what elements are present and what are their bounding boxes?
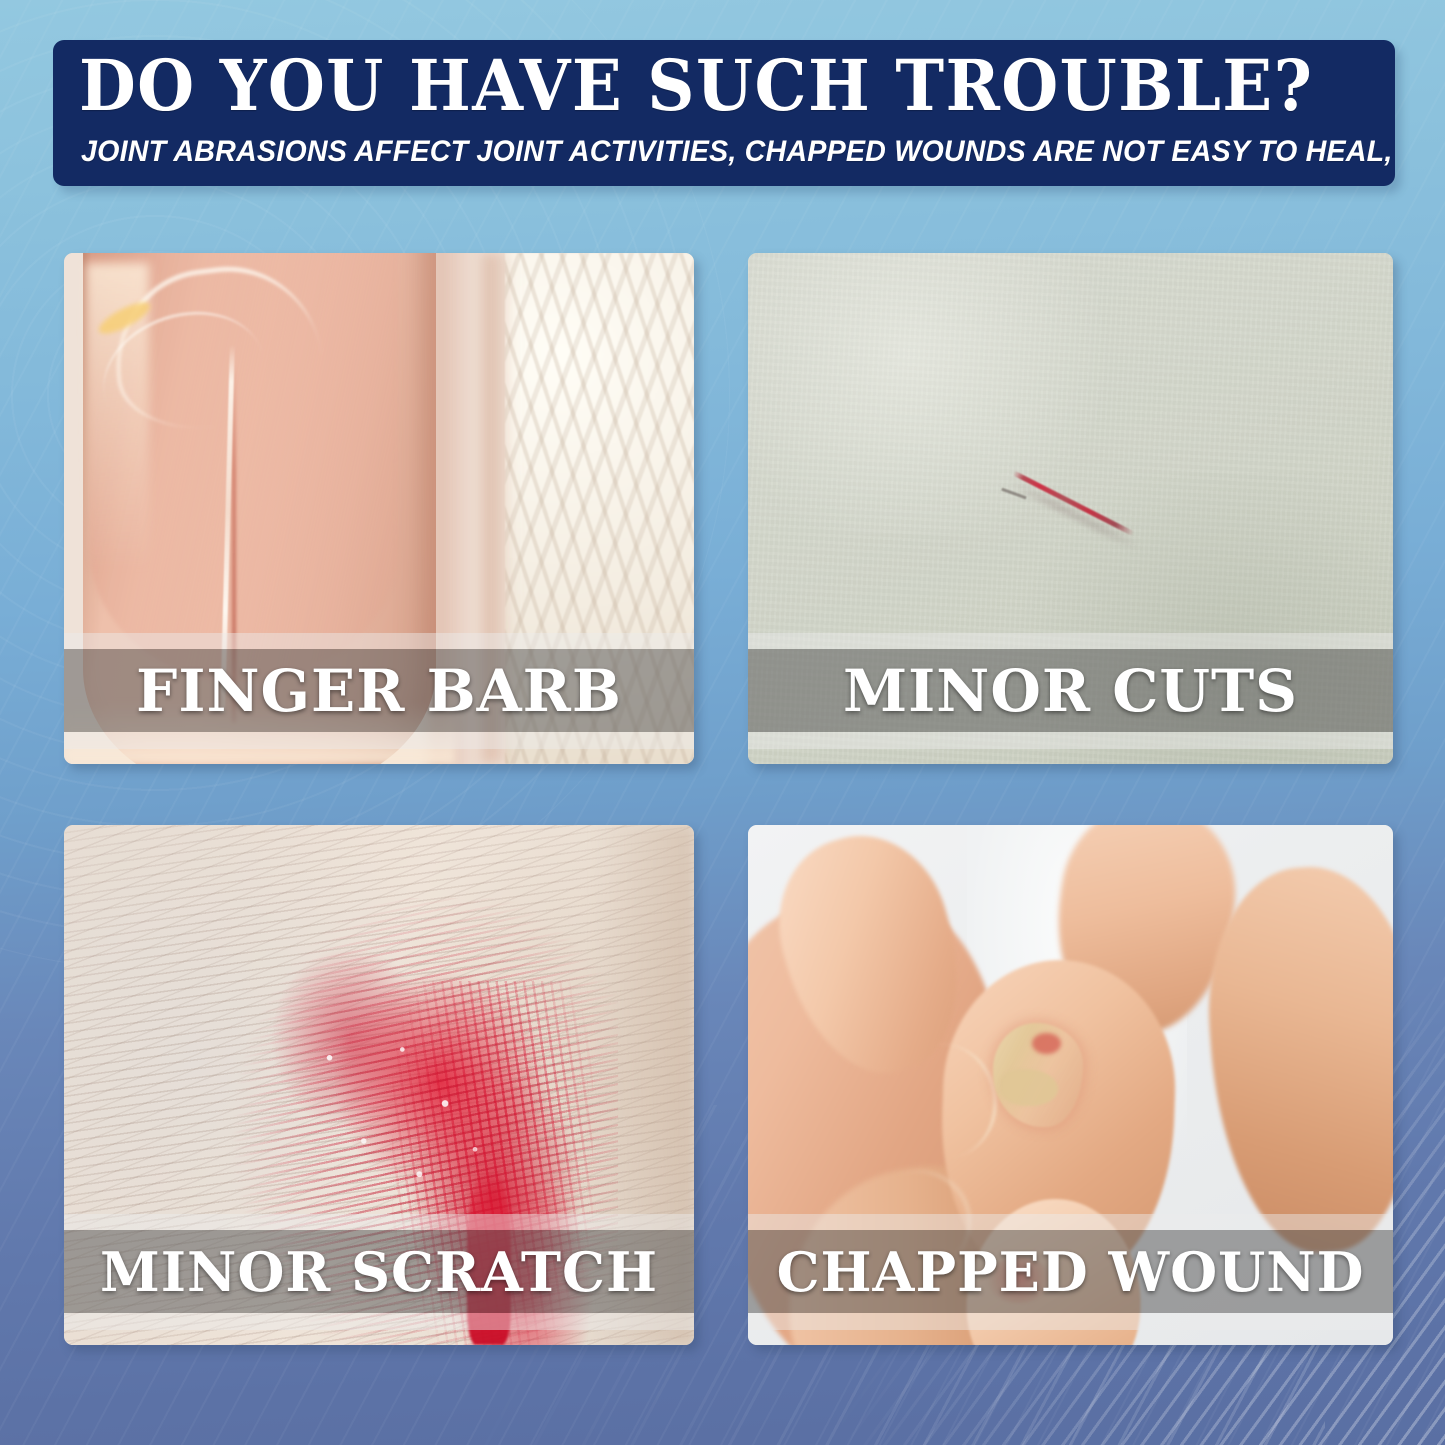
problem-card-finger-barb: FINGER BARB [64, 253, 694, 764]
card-caption-minor-cuts: MINOR CUTS [748, 645, 1393, 737]
caption-overlay: CHAPPED WOUND [748, 1214, 1393, 1330]
card-caption-chapped-wound: CHAPPED WOUND [748, 1226, 1393, 1318]
card-caption-finger-barb: FINGER BARB [64, 645, 694, 737]
problem-card-minor-scratch: MINOR SCRATCH [64, 825, 694, 1345]
chapped-skin-flake [1000, 1069, 1058, 1105]
problem-card-minor-cuts: MINOR CUTS [748, 253, 1393, 764]
caption-overlay: MINOR SCRATCH [64, 1214, 694, 1330]
header-banner: DO YOU HAVE SUCH TROUBLE? JOINT ABRASION… [53, 40, 1395, 186]
problem-card-chapped-wound: CHAPPED WOUND [748, 825, 1393, 1345]
chapped-skin-redness [1032, 1033, 1061, 1054]
page-title: DO YOU HAVE SUCH TROUBLE? [79, 44, 1285, 128]
promo-poster: DO YOU HAVE SUCH TROUBLE? JOINT ABRASION… [0, 0, 1445, 1445]
card-caption-minor-scratch: MINOR SCRATCH [64, 1226, 694, 1318]
page-subtitle: JOINT ABRASIONS AFFECT JOINT ACTIVITIES,… [81, 134, 1313, 170]
problem-card-grid: FINGER BARB MINOR CUTS [64, 253, 1394, 1353]
caption-overlay: FINGER BARB [64, 633, 694, 749]
finger-right [1199, 860, 1393, 1258]
caption-overlay: MINOR CUTS [748, 633, 1393, 749]
